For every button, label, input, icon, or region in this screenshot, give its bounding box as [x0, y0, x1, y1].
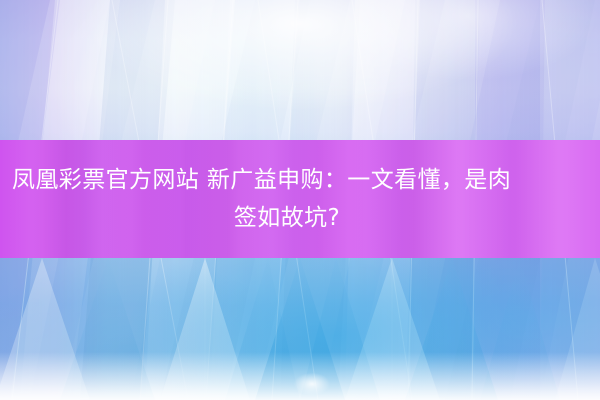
headline-line-2: 签如故坑? — [10, 199, 590, 237]
banner-graphic: 凤凰彩票官方网站 新广益申购：一文看懂，是肉 签如故坑? — [0, 0, 600, 400]
headline-banner: 凤凰彩票官方网站 新广益申购：一文看懂，是肉 签如故坑? — [0, 140, 600, 258]
headline-line-1: 凤凰彩票官方网站 新广益申购：一文看懂，是肉 — [10, 161, 590, 199]
